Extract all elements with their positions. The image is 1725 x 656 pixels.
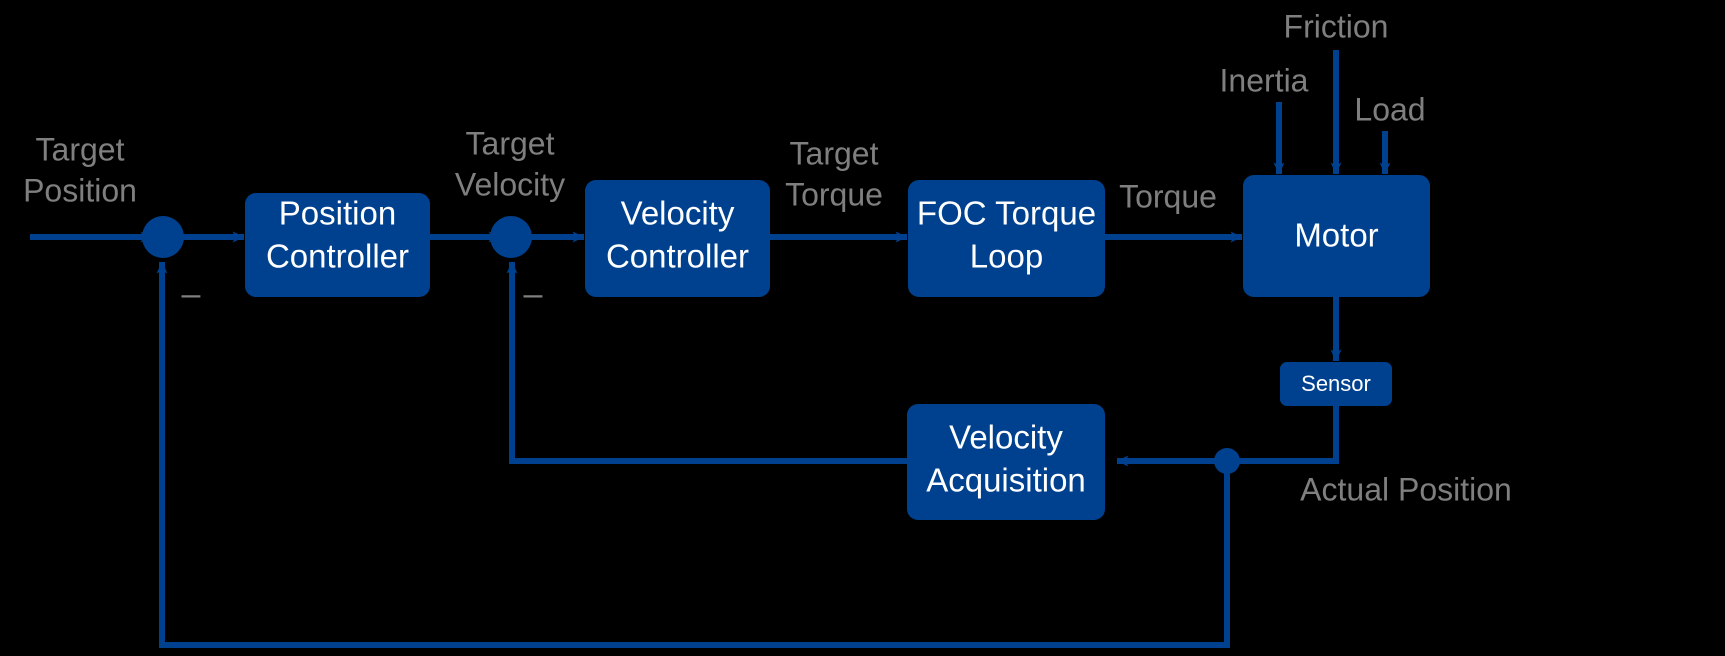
block-foc-torque-loop-label-line1: FOC Torque <box>917 195 1096 232</box>
block-velocity-acquisition-label-line1: Velocity <box>949 419 1063 456</box>
block-velocity-acquisition[interactable]: Velocity Acquisition <box>907 404 1105 520</box>
label-target-torque-line2: Torque <box>785 176 883 212</box>
control-system-block-diagram: – – Position Controller Velocity Control… <box>0 0 1725 656</box>
block-position-controller-label-line1: Position <box>279 195 396 232</box>
label-target-position-line2: Position <box>23 172 137 208</box>
label-load: Load <box>1354 91 1425 127</box>
label-friction: Friction <box>1284 8 1389 44</box>
block-position-controller[interactable]: Position Controller <box>245 193 430 297</box>
block-motor-label: Motor <box>1294 217 1378 254</box>
summing-junction-position-minus-sign: – <box>182 275 201 313</box>
summing-junction-velocity-minus-sign: – <box>524 275 543 313</box>
block-position-controller-label-line2: Controller <box>266 238 409 275</box>
label-target-torque-line1: Target <box>790 135 879 171</box>
label-actual-position: Actual Position <box>1300 471 1512 507</box>
diagram-background <box>0 0 1725 656</box>
label-target-velocity-line1: Target <box>466 125 555 161</box>
block-velocity-controller-label-line2: Controller <box>606 238 749 275</box>
block-velocity-acquisition-label-line2: Acquisition <box>926 462 1086 499</box>
label-target-position-line1: Target <box>36 131 125 167</box>
block-foc-torque-loop-label-line2: Loop <box>970 238 1043 275</box>
label-torque: Torque <box>1119 178 1217 214</box>
summing-junction-velocity <box>490 216 532 258</box>
block-velocity-controller[interactable]: Velocity Controller <box>585 180 770 297</box>
block-motor[interactable]: Motor <box>1243 175 1430 297</box>
summing-junction-position <box>142 216 184 258</box>
block-velocity-controller-label-line1: Velocity <box>621 195 735 232</box>
block-sensor[interactable]: Sensor <box>1280 362 1392 406</box>
branch-node-actual-position <box>1214 448 1240 474</box>
label-inertia: Inertia <box>1220 62 1309 98</box>
block-foc-torque-loop[interactable]: FOC Torque Loop <box>908 180 1105 297</box>
label-target-velocity-line2: Velocity <box>455 166 565 202</box>
block-sensor-label: Sensor <box>1301 371 1371 396</box>
